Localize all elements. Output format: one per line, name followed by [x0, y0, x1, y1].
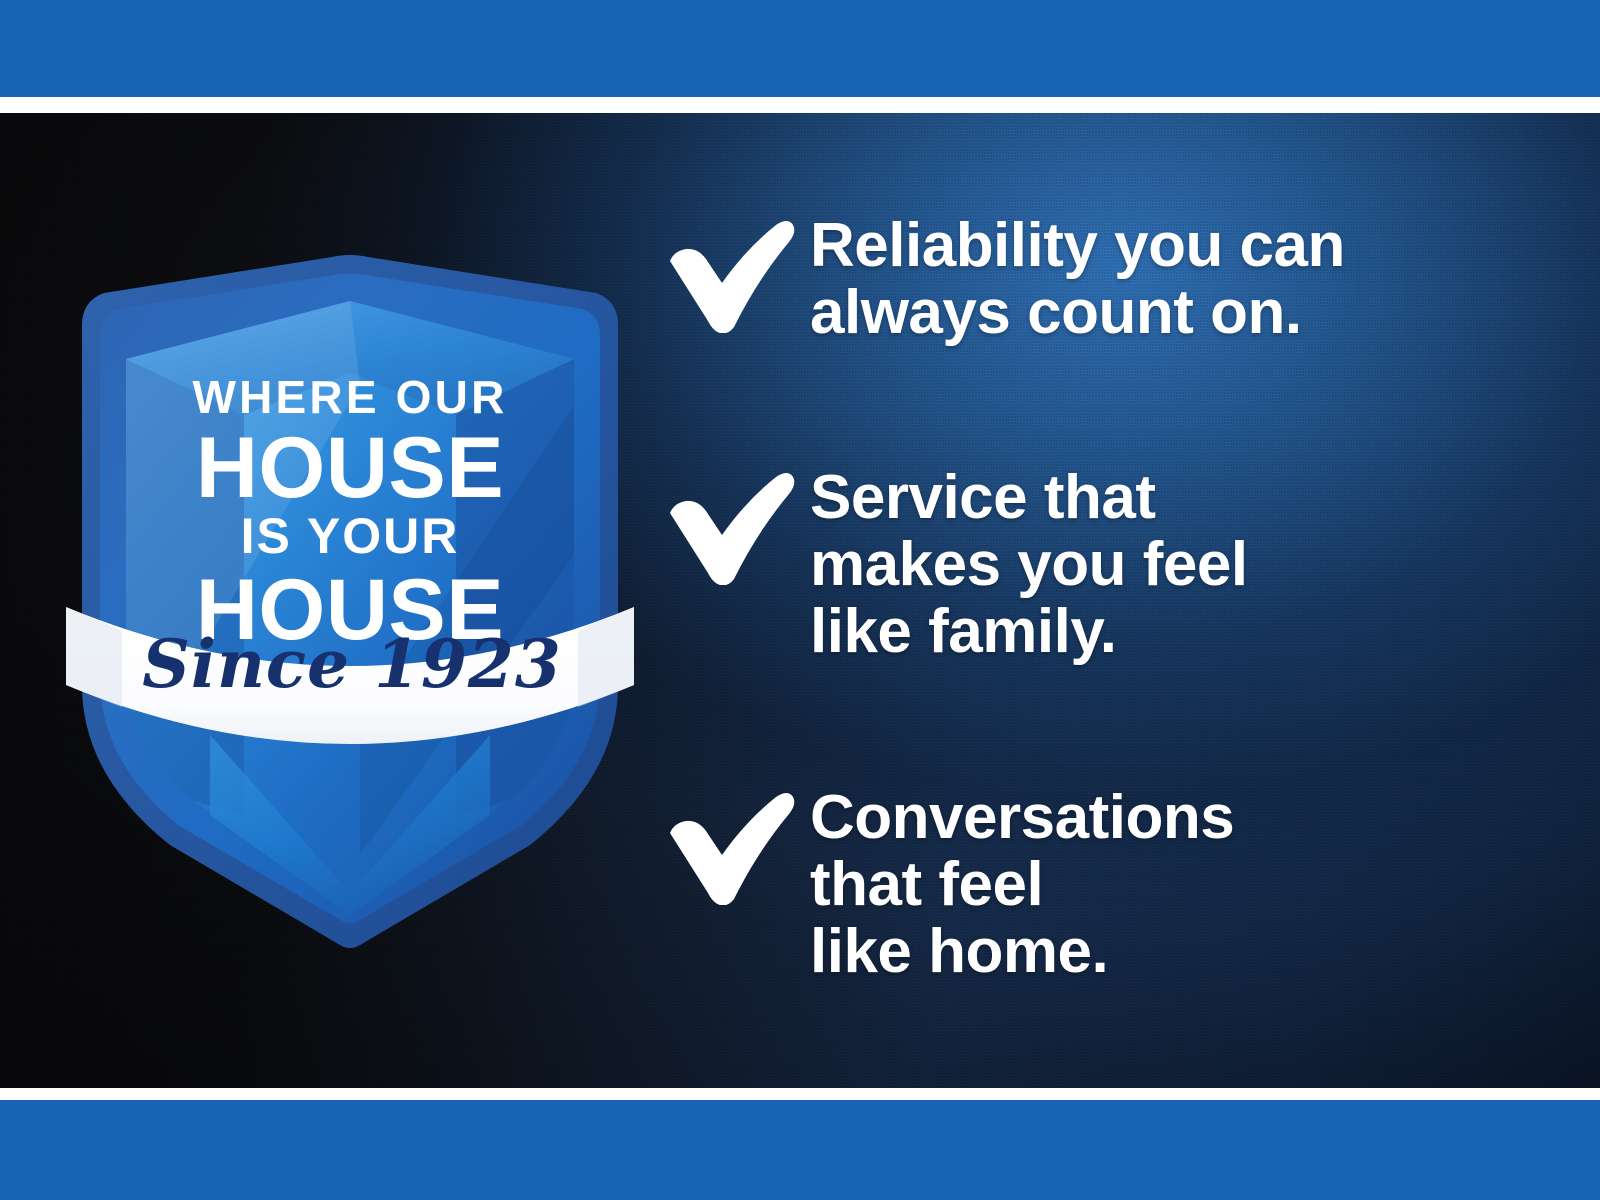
benefit-item-3: Conversations that feel like home. [660, 785, 1234, 986]
benefit-text-3: Conversations that feel like home. [810, 785, 1234, 986]
shield-line-3: IS YOUR [241, 508, 460, 564]
shield-emblem: WHERE OUR HOUSE IS YOUR HOUSE Since 1923 [60, 255, 640, 955]
shield-line-2: HOUSE [196, 420, 504, 516]
bottom-divider-stripe [0, 1088, 1600, 1100]
top-brand-bar [0, 0, 1600, 97]
benefit-item-1: Reliability you can always count on. [660, 213, 1345, 347]
benefit-text-2: Service that makes you feel like family. [810, 465, 1248, 666]
benefit-text-1: Reliability you can always count on. [810, 213, 1345, 347]
since-banner-text: Since 1923 [142, 625, 562, 703]
check-icon [660, 785, 810, 905]
check-icon [660, 465, 810, 585]
top-divider-stripe [0, 97, 1600, 113]
benefit-item-2: Service that makes you feel like family. [660, 465, 1248, 666]
benefits-list: Reliability you can always count on. Ser… [660, 113, 1540, 1088]
promo-graphic: WHERE OUR HOUSE IS YOUR HOUSE Since 1923… [0, 0, 1600, 1200]
bottom-brand-bar [0, 1100, 1600, 1200]
check-icon [660, 213, 810, 333]
shield-line-1: WHERE OUR [192, 371, 507, 423]
